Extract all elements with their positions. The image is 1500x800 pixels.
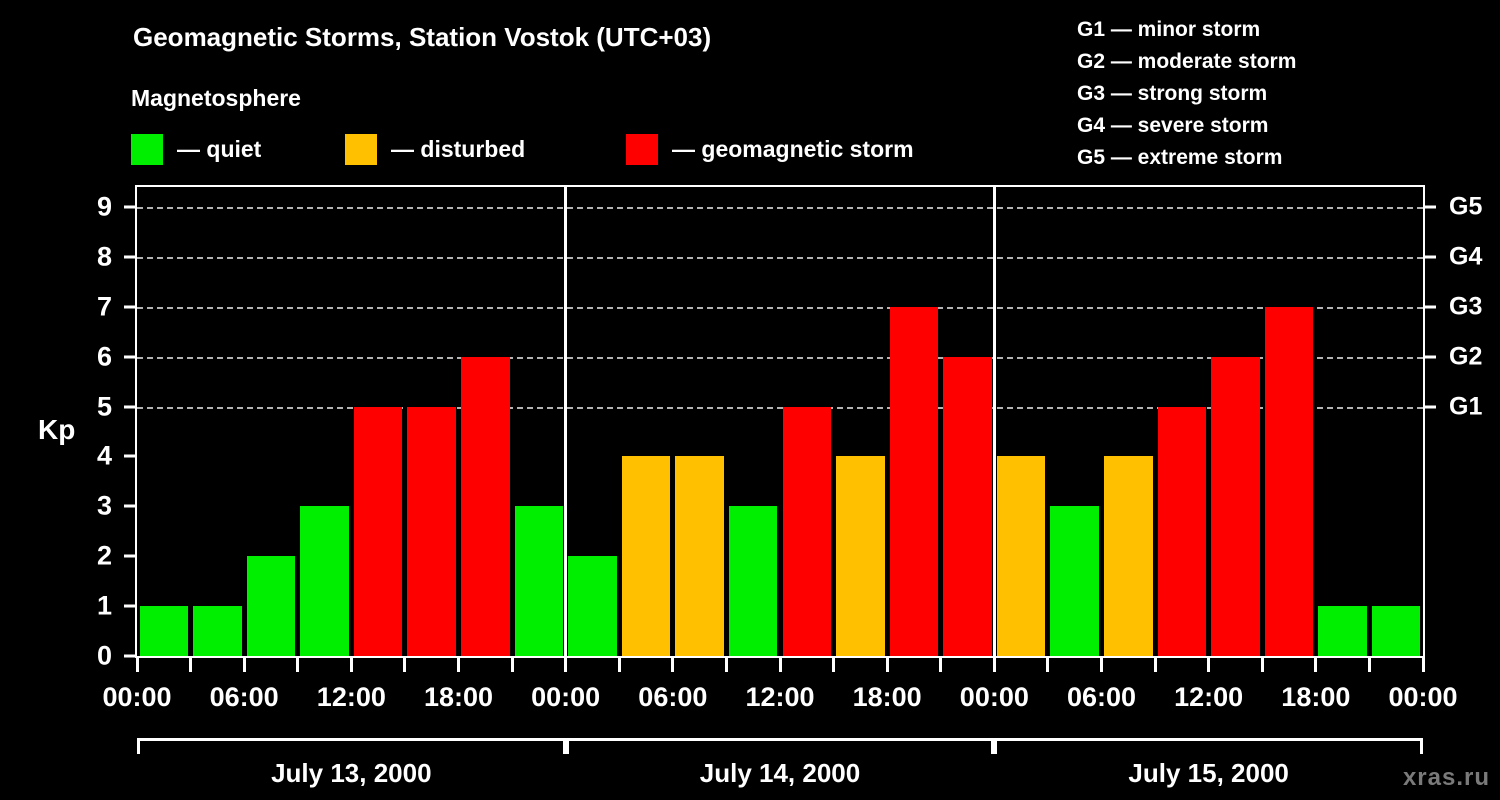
g-scale-row-4: G4 — severe storm: [1077, 110, 1296, 142]
g-tick-mark-G5: [1425, 205, 1436, 208]
y-tick-mark-3: [124, 505, 135, 508]
bar-day2-1800: [890, 307, 939, 656]
day-label-3: July 15, 2000: [1128, 758, 1288, 789]
bar-day3-0000: [997, 456, 1046, 656]
g-tick-mark-G1: [1425, 405, 1436, 408]
bar-day2-0000: [568, 556, 617, 656]
y-tick-mark-7: [124, 305, 135, 308]
bar-day1-0000: [140, 606, 189, 656]
bar-day3-2100: [1372, 606, 1421, 656]
x-tick-mark-2: [243, 658, 246, 672]
day-bracket-1: [137, 738, 566, 754]
x-tick-mark-14: [886, 658, 889, 672]
x-tick-mark-3: [296, 658, 299, 672]
g-scale-row-2: G2 — moderate storm: [1077, 46, 1296, 78]
y-tick-mark-0: [124, 655, 135, 658]
legend-swatch-icon: [345, 134, 377, 165]
day-bracket-3: [994, 738, 1423, 754]
g-scale-row-3: G3 — strong storm: [1077, 78, 1296, 110]
y-tick-mark-8: [124, 255, 135, 258]
x-tick-mark-20: [1207, 658, 1210, 672]
magnetosphere-label: Magnetosphere: [131, 85, 301, 112]
y-tick-mark-5: [124, 405, 135, 408]
g-tick-mark-G4: [1425, 255, 1436, 258]
x-tick-mark-8: [564, 658, 567, 672]
x-tick-mark-23: [1368, 658, 1371, 672]
x-tick-label-8: 00:00: [960, 682, 1029, 713]
bar-day1-0300: [193, 606, 242, 656]
y-tick-label-7: 7: [72, 291, 112, 322]
watermark: xras.ru: [1403, 764, 1490, 792]
y-tick-mark-4: [124, 455, 135, 458]
y-tick-label-0: 0: [72, 641, 112, 672]
day-separator-1: [564, 187, 567, 656]
bar-day2-0900: [729, 506, 778, 656]
y-tick-label-3: 3: [72, 491, 112, 522]
y-tick-label-9: 9: [72, 191, 112, 222]
g-tick-label-G5: G5: [1449, 192, 1482, 221]
x-tick-mark-9: [618, 658, 621, 672]
y-tick-label-5: 5: [72, 391, 112, 422]
g-tick-label-G3: G3: [1449, 292, 1482, 321]
y-tick-label-8: 8: [72, 241, 112, 272]
x-tick-mark-6: [457, 658, 460, 672]
g-scale-row-5: G5 — extreme storm: [1077, 142, 1296, 174]
bar-day2-1500: [836, 456, 885, 656]
bar-day1-0600: [247, 556, 296, 656]
x-tick-label-12: 00:00: [1388, 682, 1457, 713]
x-tick-mark-15: [939, 658, 942, 672]
gridline-kp-7: [137, 307, 1423, 309]
bar-day2-0300: [622, 456, 671, 656]
y-tick-label-4: 4: [72, 441, 112, 472]
legend-label: — quiet: [177, 136, 261, 163]
x-tick-mark-4: [350, 658, 353, 672]
y-tick-mark-1: [124, 605, 135, 608]
bar-day3-0300: [1050, 506, 1099, 656]
disturbed-legend: — disturbed: [345, 133, 525, 165]
x-tick-mark-7: [511, 658, 514, 672]
x-tick-mark-21: [1261, 658, 1264, 672]
bar-day3-1500: [1265, 307, 1314, 656]
day-label-1: July 13, 2000: [271, 758, 431, 789]
y-tick-mark-9: [124, 205, 135, 208]
bar-day3-0600: [1104, 456, 1153, 656]
bar-day3-1800: [1318, 606, 1367, 656]
y-tick-label-1: 1: [72, 591, 112, 622]
bar-day2-0600: [675, 456, 724, 656]
bar-day2-1200: [783, 407, 832, 656]
x-tick-label-6: 12:00: [745, 682, 814, 713]
bar-day3-1200: [1211, 357, 1260, 656]
g-tick-label-G4: G4: [1449, 242, 1482, 271]
x-tick-mark-11: [725, 658, 728, 672]
g-scale-legend: G1 — minor stormG2 — moderate stormG3 — …: [1077, 14, 1296, 174]
bar-day2-2100: [943, 357, 992, 656]
quiet-legend: — quiet: [131, 133, 261, 165]
x-tick-mark-0: [136, 658, 139, 672]
x-tick-mark-5: [403, 658, 406, 672]
x-tick-label-9: 06:00: [1067, 682, 1136, 713]
x-tick-label-5: 06:00: [638, 682, 707, 713]
plot-area: [137, 187, 1423, 656]
plot-frame: [135, 185, 1425, 658]
g-scale-row-1: G1 — minor storm: [1077, 14, 1296, 46]
y-tick-mark-6: [124, 355, 135, 358]
bar-day1-1800: [461, 357, 510, 656]
x-tick-label-2: 12:00: [317, 682, 386, 713]
x-tick-mark-10: [671, 658, 674, 672]
y-tick-label-6: 6: [72, 341, 112, 372]
x-tick-mark-16: [993, 658, 996, 672]
x-tick-label-4: 00:00: [531, 682, 600, 713]
storm-legend: — geomagnetic storm: [626, 133, 914, 165]
bar-day1-1500: [407, 407, 456, 656]
g-tick-mark-G3: [1425, 305, 1436, 308]
y-tick-mark-2: [124, 555, 135, 558]
bar-day1-2100: [515, 506, 564, 656]
legend-swatch-icon: [131, 134, 163, 165]
y-tick-label-2: 2: [72, 541, 112, 572]
x-tick-mark-24: [1422, 658, 1425, 672]
x-tick-mark-13: [832, 658, 835, 672]
bar-day1-0900: [300, 506, 349, 656]
page-title: Geomagnetic Storms, Station Vostok (UTC+…: [133, 22, 711, 53]
x-tick-label-3: 18:00: [424, 682, 493, 713]
x-tick-label-11: 18:00: [1281, 682, 1350, 713]
day-bracket-2: [566, 738, 995, 754]
g-tick-mark-G2: [1425, 355, 1436, 358]
x-tick-label-7: 18:00: [853, 682, 922, 713]
gridline-kp-8: [137, 257, 1423, 259]
x-tick-label-10: 12:00: [1174, 682, 1243, 713]
x-tick-mark-17: [1046, 658, 1049, 672]
gridline-kp-9: [137, 207, 1423, 209]
bar-day3-0900: [1158, 407, 1207, 656]
x-tick-label-0: 00:00: [102, 682, 171, 713]
y-axis-title: Kp: [38, 414, 75, 446]
legend-label: — disturbed: [391, 136, 525, 163]
bar-day1-1200: [354, 407, 403, 656]
x-tick-mark-22: [1314, 658, 1317, 672]
x-tick-mark-1: [189, 658, 192, 672]
x-tick-mark-18: [1100, 658, 1103, 672]
x-tick-mark-19: [1154, 658, 1157, 672]
g-tick-label-G1: G1: [1449, 392, 1482, 421]
day-separator-2: [993, 187, 996, 656]
legend-label: — geomagnetic storm: [672, 136, 914, 163]
x-tick-mark-12: [779, 658, 782, 672]
x-tick-label-1: 06:00: [210, 682, 279, 713]
g-tick-label-G2: G2: [1449, 342, 1482, 371]
legend-swatch-icon: [626, 134, 658, 165]
chart-page: Geomagnetic Storms, Station Vostok (UTC+…: [0, 0, 1500, 800]
day-label-2: July 14, 2000: [700, 758, 860, 789]
